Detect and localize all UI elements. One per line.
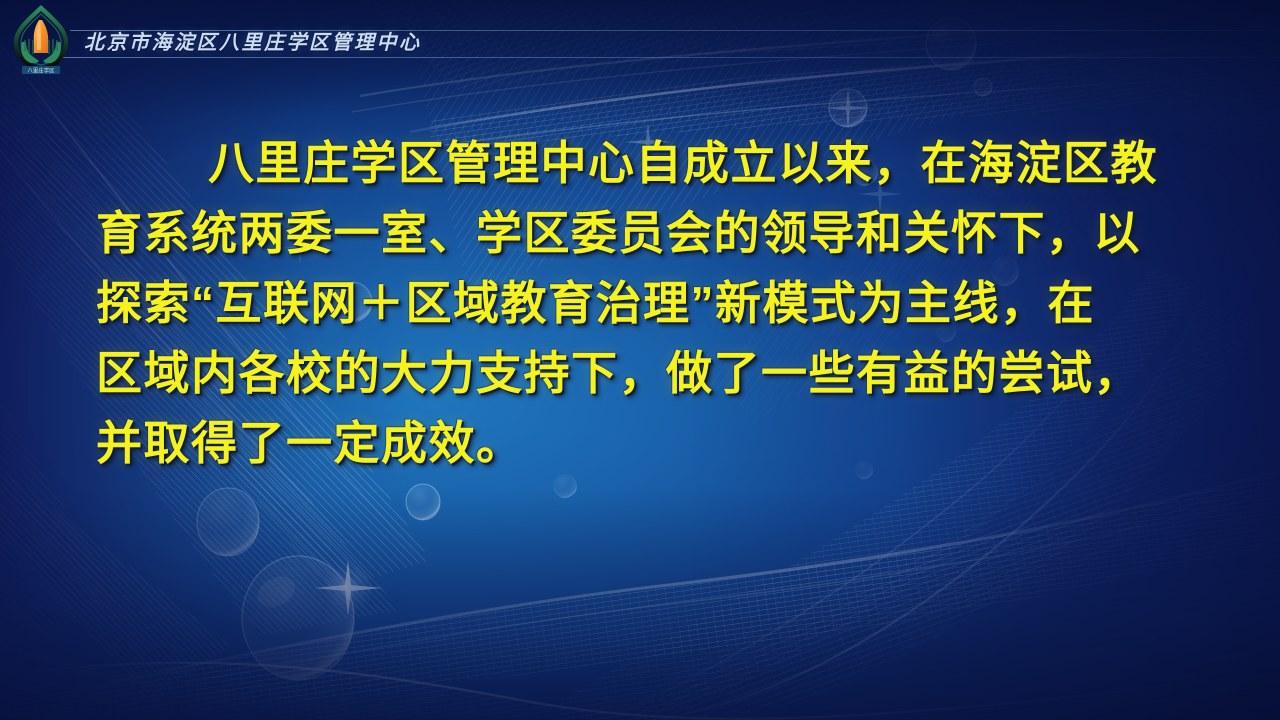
body-line-4: 区域内各校的大力支持下，做了一些有益的尝试， xyxy=(96,338,1201,408)
slide-body-text: 八里庄学区管理中心自成立以来，在海淀区教 育系统两委一室、学区委员会的领导和关怀… xyxy=(96,128,1201,478)
header-rule-bottom xyxy=(60,57,1280,58)
body-line-1: 八里庄学区管理中心自成立以来，在海淀区教 xyxy=(96,128,1201,198)
body-line-3: 探索“互联网＋区域教育治理”新模式为主线，在 xyxy=(96,268,1201,338)
logo-caption-text: 八里庄学区 xyxy=(28,66,56,74)
body-line-5: 并取得了一定成效。 xyxy=(96,408,1201,478)
body-line-2: 育系统两委一室、学区委员会的领导和关怀下，以 xyxy=(96,198,1201,268)
slide-canvas: 八里庄学区 北京市海淀区八里庄学区管理中心 八里庄学区管理中心自成立以来，在海淀… xyxy=(0,0,1280,720)
site-title: 北京市海淀区八里庄学区管理中心 xyxy=(84,26,422,55)
organization-logo: 八里庄学区 xyxy=(8,4,74,76)
slide-header: 八里庄学区 北京市海淀区八里庄学区管理中心 xyxy=(0,0,1280,78)
